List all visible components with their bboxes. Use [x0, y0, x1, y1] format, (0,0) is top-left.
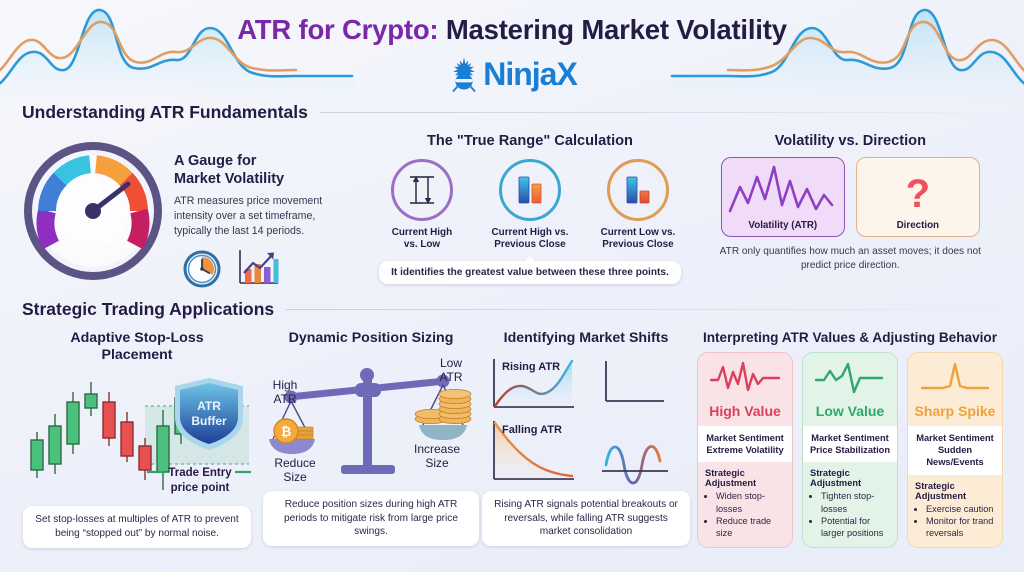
- value-card-art: [698, 353, 792, 403]
- falling-atr-label: Falling ATR: [502, 424, 562, 436]
- page-title-accent: ATR for Crypto:: [237, 14, 438, 45]
- vertical-range-arrows-icon: [405, 172, 439, 208]
- volatility-direction-title: Volatility vs. Direction: [695, 133, 1006, 149]
- value-card-heading: High Value: [698, 403, 792, 426]
- balance-scale-icon: ₿ High ATR Low ATR: [265, 353, 477, 485]
- low-atr-label-line1: Low: [440, 356, 462, 370]
- page-title: ATR for Crypto: Mastering Market Volatil…: [0, 14, 1024, 46]
- rising-falling-atr-charts: Rising ATR Falling ATR: [488, 353, 684, 485]
- true-range-label: Current Low vs. Previous Close: [592, 227, 684, 252]
- true-range-callout: It identifies the greatest value between…: [379, 261, 681, 284]
- stop-loss-column: Adaptive Stop-Loss Placement: [14, 326, 260, 548]
- true-range-ring: [607, 159, 669, 221]
- stop-loss-note: Set stop-losses at multiples of ATR to p…: [23, 506, 251, 547]
- direction-box-label: Direction: [857, 220, 979, 231]
- increase-size-label-line2: Size: [425, 456, 449, 470]
- question-mark-icon: ?: [906, 174, 930, 214]
- logo-text: NinjaX: [483, 58, 577, 90]
- value-card-adjustment: Strategic Adjustment Exercise caution Mo…: [908, 475, 1002, 547]
- infographic-page: ATR for Crypto: Mastering Market Volatil…: [0, 0, 1024, 572]
- interpreting-title: Interpreting ATR Values & Adjusting Beha…: [690, 330, 1010, 346]
- market-shifts-column: Identifying Market Shifts: [482, 326, 690, 548]
- market-shifts-note: Rising ATR signals potential breakouts o…: [482, 491, 690, 546]
- true-range-column: The "True Range" Calculation: [365, 131, 694, 295]
- section-divider-rule: [286, 309, 1002, 310]
- low-atr-label-line2: ATR: [439, 370, 462, 384]
- trade-entry-label-line1: Trade Entry: [168, 467, 232, 479]
- section-divider-rule: [320, 112, 1002, 113]
- adjustment-bullet: Tighten stop-losses: [821, 490, 890, 514]
- volatility-direction-column: Volatility vs. Direction Volatility (ATR…: [695, 131, 1006, 295]
- interpreting-column: Interpreting ATR Values & Adjusting Beha…: [690, 326, 1010, 548]
- gauge-heading-line1: A Gauge for: [174, 153, 256, 169]
- gauge-text-block: A Gauge for Market Volatility ATR measur…: [174, 137, 344, 289]
- true-range-label-line2: vs. Low: [404, 239, 440, 250]
- high-atr-label-line1: High: [273, 378, 298, 392]
- two-bars-tall-short-icon: [513, 172, 547, 208]
- true-range-item: Current High vs. Previous Close: [484, 159, 576, 252]
- bar-chart-growth-icon: [236, 247, 280, 289]
- value-card-high: High Value Market Sentiment Extreme Vola…: [697, 352, 793, 548]
- value-card-heading: Low Value: [803, 403, 897, 426]
- market-shifts-title: Identifying Market Shifts: [482, 330, 690, 347]
- gauge-heading-line2: Market Volatility: [174, 171, 284, 187]
- value-card-adjustment: Strategic Adjustment Widen stop-losses R…: [698, 462, 792, 547]
- true-range-ring: [391, 159, 453, 221]
- true-range-title: The "True Range" Calculation: [365, 133, 694, 149]
- sentiment-label: Market Sentiment: [913, 432, 997, 444]
- true-range-items: Current High vs. Low: [365, 159, 694, 252]
- value-card-heading: Sharp Spike: [908, 403, 1002, 426]
- sentiment-value: Sudden News/Events: [913, 444, 997, 468]
- gauge-body-text: ATR measures price movement intensity ov…: [174, 194, 344, 238]
- true-range-label-line1: Current High: [392, 227, 452, 238]
- position-sizing-column: Dynamic Position Sizing: [260, 326, 482, 548]
- gauge-heading: A Gauge for Market Volatility: [174, 153, 344, 188]
- true-range-label-line2: Previous Close: [494, 239, 565, 250]
- brand-logo: NinjaX: [0, 56, 1024, 92]
- adjustment-label: Strategic Adjustment: [705, 468, 785, 488]
- true-range-item: Current Low vs. Previous Close: [592, 159, 684, 252]
- sentiment-label: Market Sentiment: [703, 432, 787, 444]
- header: ATR for Crypto: Mastering Market Volatil…: [0, 0, 1024, 102]
- candlestick-chart-with-shield: ATR Buffer Trade Entry price point: [19, 370, 255, 500]
- volatility-box: Volatility (ATR): [721, 157, 845, 237]
- value-card-spike: Sharp Spike Market Sentiment Sudden News…: [907, 352, 1003, 548]
- high-volatility-wave-icon: [707, 358, 783, 398]
- spike-wave-icon: [917, 358, 993, 398]
- position-sizing-art: ₿ High ATR Low ATR: [260, 353, 482, 485]
- sentiment-value: Extreme Volatility: [703, 444, 787, 456]
- true-range-ring: [499, 159, 561, 221]
- increase-size-label-line1: Increase: [414, 442, 460, 456]
- true-range-label: Current High vs. Low: [376, 227, 468, 252]
- value-card-art: [908, 353, 1002, 403]
- section-heading-applications: Strategic Trading Applications: [0, 299, 1024, 320]
- gauge-meter-icon: [18, 137, 168, 285]
- adjustment-bullet: Monitor for trand reversals: [926, 515, 995, 539]
- adjustment-bullet: Widen stop-losses: [716, 490, 785, 514]
- section-heading-fundamentals: Understanding ATR Fundamentals: [0, 102, 1024, 123]
- true-range-label: Current High vs. Previous Close: [484, 227, 576, 252]
- position-sizing-note: Reduce position sizes during high ATR pe…: [263, 491, 479, 546]
- volatility-box-label: Volatility (ATR): [722, 220, 844, 231]
- trade-entry-label-line2: price point: [171, 482, 230, 494]
- stop-loss-title-line1: Adaptive Stop-Loss: [70, 330, 203, 346]
- gauge-mini-icons: [174, 247, 344, 289]
- value-card-sentiment: Market Sentiment Price Stabilization: [803, 426, 897, 462]
- direction-box: ? Direction: [856, 157, 980, 237]
- adjustment-label: Strategic Adjustment: [810, 468, 890, 488]
- clock-icon: [182, 249, 222, 289]
- stop-loss-art: ATR Buffer Trade Entry price point: [14, 370, 260, 500]
- sentiment-label: Market Sentiment: [808, 432, 892, 444]
- adjustment-bullet: Reduce trade size: [716, 515, 785, 539]
- value-cards: High Value Market Sentiment Extreme Vola…: [690, 352, 1010, 548]
- adjustment-label: Strategic Adjustment: [915, 481, 995, 501]
- value-card-art: [803, 353, 897, 403]
- reduce-size-label-line1: Reduce: [274, 456, 316, 470]
- reduce-size-label-line2: Size: [283, 470, 307, 484]
- true-range-label-line1: Current Low vs.: [601, 227, 676, 238]
- value-card-low: Low Value Market Sentiment Price Stabili…: [802, 352, 898, 548]
- svg-text:₿: ₿: [281, 424, 292, 439]
- stop-loss-title: Adaptive Stop-Loss Placement: [14, 330, 260, 364]
- value-card-sentiment: Market Sentiment Extreme Volatility: [698, 426, 792, 462]
- applications-row: Adaptive Stop-Loss Placement: [0, 320, 1024, 548]
- adjustment-bullet: Exercise caution: [926, 503, 995, 515]
- value-card-sentiment: Market Sentiment Sudden News/Events: [908, 426, 1002, 474]
- shield-label-line2: Buffer: [191, 414, 227, 428]
- adjustment-bullet: Potential for larger positions: [821, 515, 890, 539]
- rising-atr-label: Rising ATR: [502, 361, 560, 373]
- volatility-direction-note: ATR only quantifies how much an asset mo…: [695, 245, 1006, 272]
- adjustment-bullets: Widen stop-losses Reduce trade size: [705, 490, 785, 539]
- section-heading-applications-label: Strategic Trading Applications: [22, 299, 274, 320]
- fundamentals-row: A Gauge for Market Volatility ATR measur…: [0, 123, 1024, 295]
- true-range-item: Current High vs. Low: [376, 159, 468, 252]
- two-bars-tall-low-icon: [621, 172, 655, 208]
- shield-label-line1: ATR: [197, 399, 221, 413]
- market-shifts-art: Rising ATR Falling ATR: [482, 353, 690, 485]
- true-range-label-line1: Current High vs.: [492, 227, 569, 238]
- volatility-direction-boxes: Volatility (ATR) ? Direction: [695, 157, 1006, 237]
- gauge-column: A Gauge for Market Volatility ATR measur…: [18, 131, 365, 295]
- low-volatility-wave-icon: [812, 358, 888, 398]
- zigzag-volatility-icon: [724, 161, 844, 219]
- adjustment-bullets: Exercise caution Monitor for trand rever…: [915, 503, 995, 539]
- section-heading-fundamentals-label: Understanding ATR Fundamentals: [22, 102, 308, 123]
- adjustment-bullets: Tighten stop-losses Potential for larger…: [810, 490, 890, 539]
- stop-loss-title-line2: Placement: [102, 347, 173, 363]
- position-sizing-title: Dynamic Position Sizing: [260, 330, 482, 347]
- value-card-adjustment: Strategic Adjustment Tighten stop-losses…: [803, 462, 897, 547]
- true-range-label-line2: Previous Close: [602, 239, 673, 250]
- sentiment-value: Price Stabilization: [808, 444, 892, 456]
- high-atr-label-line2: ATR: [273, 392, 296, 406]
- page-title-rest: Mastering Market Volatility: [438, 14, 786, 45]
- ninja-mask-icon: [447, 56, 481, 92]
